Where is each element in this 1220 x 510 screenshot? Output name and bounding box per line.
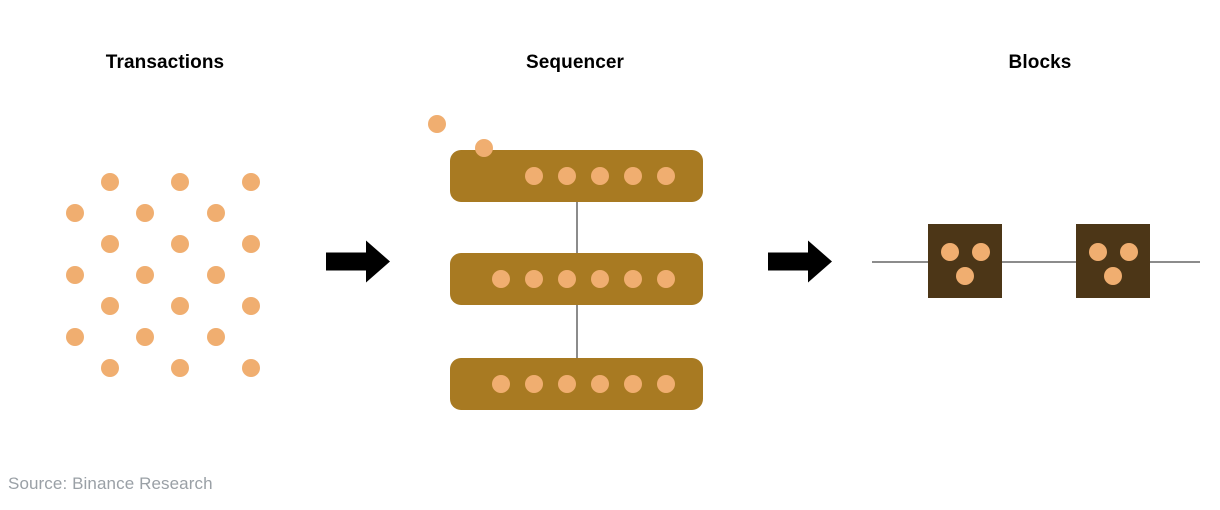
source-caption: Source: Binance Research xyxy=(8,474,213,494)
sequencer-bar-dot xyxy=(525,270,543,288)
sequencer-bar-dot xyxy=(657,375,675,393)
transaction-dot xyxy=(101,235,119,253)
transaction-dot xyxy=(136,204,154,222)
sequencer-bar-3 xyxy=(450,358,703,410)
block-transaction-dot xyxy=(941,243,959,261)
block-transaction-dot xyxy=(1104,267,1122,285)
transaction-dot xyxy=(207,266,225,284)
transaction-dot xyxy=(207,204,225,222)
transaction-dot xyxy=(101,359,119,377)
incoming-dot-free xyxy=(428,115,446,133)
transaction-dot xyxy=(101,297,119,315)
transaction-dot xyxy=(171,359,189,377)
block-2 xyxy=(1076,224,1150,298)
sequencer-bar-dot xyxy=(624,375,642,393)
sequencer-bar-dot xyxy=(558,167,576,185)
sequencer-bar-dot xyxy=(591,167,609,185)
sequencer-bar-dot xyxy=(525,375,543,393)
transaction-dot xyxy=(136,328,154,346)
sequencer-group xyxy=(430,105,720,425)
column-title-sequencer: Sequencer xyxy=(526,52,624,74)
block-transaction-dot xyxy=(972,243,990,261)
transaction-dot-cloud xyxy=(55,168,275,380)
incoming-dot-entering xyxy=(475,139,493,157)
chain-connector-line xyxy=(872,261,930,263)
transaction-dot xyxy=(66,328,84,346)
arrow-transactions-to-sequencer xyxy=(326,241,390,288)
block-1 xyxy=(928,224,1002,298)
transaction-dot xyxy=(171,297,189,315)
sequencer-bar-dot xyxy=(624,167,642,185)
block-transaction-dot xyxy=(1120,243,1138,261)
sequencer-bar-dot xyxy=(492,270,510,288)
sequencer-bar-dot xyxy=(558,375,576,393)
transaction-dot xyxy=(242,297,260,315)
sequencer-connector-line xyxy=(576,305,578,358)
transaction-dot xyxy=(242,173,260,191)
block-transaction-dot xyxy=(1089,243,1107,261)
sequencer-bar-dot xyxy=(591,375,609,393)
sequencer-bar-dot xyxy=(492,375,510,393)
transaction-dot xyxy=(66,266,84,284)
block-chain-group xyxy=(860,210,1200,320)
sequencer-bar-dot xyxy=(624,270,642,288)
column-title-blocks: Blocks xyxy=(1009,52,1072,74)
transaction-dot xyxy=(101,173,119,191)
chain-connector-line xyxy=(1000,261,1078,263)
transaction-dot xyxy=(171,173,189,191)
sequencer-bar-dot xyxy=(558,270,576,288)
transaction-dot xyxy=(136,266,154,284)
sequencer-bar-dot xyxy=(591,270,609,288)
transaction-dot xyxy=(242,235,260,253)
diagram-canvas: Transactions Sequencer Blocks Source: Bi… xyxy=(0,0,1220,510)
sequencer-bar-dot xyxy=(657,167,675,185)
sequencer-bar-dot xyxy=(525,167,543,185)
sequencer-connector-line xyxy=(576,202,578,253)
block-transaction-dot xyxy=(956,267,974,285)
transaction-dot xyxy=(171,235,189,253)
arrow-sequencer-to-blocks xyxy=(768,241,832,288)
transaction-dot xyxy=(66,204,84,222)
column-title-transactions: Transactions xyxy=(106,52,224,74)
chain-connector-line xyxy=(1148,261,1200,263)
sequencer-bar-dot xyxy=(657,270,675,288)
sequencer-bar-1 xyxy=(450,150,703,202)
sequencer-bar-2 xyxy=(450,253,703,305)
transaction-dot xyxy=(242,359,260,377)
transaction-dot xyxy=(207,328,225,346)
